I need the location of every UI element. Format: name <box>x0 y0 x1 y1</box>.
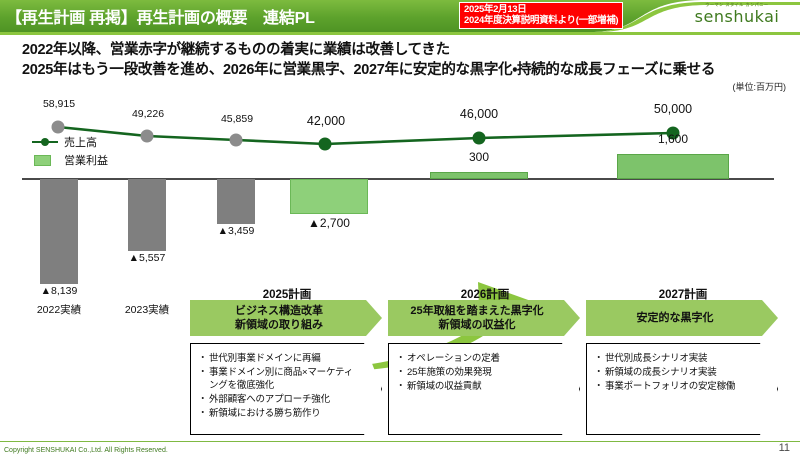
plan-2027-bullet-list: 世代別成長シナリオ実装 新領域の成長シナリオ実装 事業ポートフォリオの安定稼働 <box>587 344 777 393</box>
plan-title-2026: 2026計画 <box>390 286 580 302</box>
pl-chart: 58,915 49,226 45,859 42,000 46,000 50,00… <box>0 92 800 292</box>
plan-2025-bullet-list: 世代別事業ドメインに再編 事業ドメイン別に商品×マーケティングを徹底強化 外部顧… <box>191 344 381 420</box>
revenue-marker-2022 <box>52 121 65 134</box>
badge-line-1: 2025年2月13日 <box>464 4 618 15</box>
plan-2025-headline-1: ビジネス構造改革 <box>235 304 323 318</box>
revenue-label-2025: 42,000 <box>288 114 364 128</box>
list-item: 新領域における勝ち筋作り <box>199 407 359 420</box>
plan-banner-2027: 安定的な黒字化 <box>586 300 778 336</box>
revenue-label-2026: 46,000 <box>441 107 517 121</box>
revenue-label-2027: 50,000 <box>635 102 711 116</box>
footer-divider <box>0 441 800 442</box>
company-logo: ウーマン スタイル カンパニー senshukai <box>682 2 792 25</box>
line-marker-icon <box>32 136 58 148</box>
revenue-marker-2023 <box>141 130 154 143</box>
plan-2025-headline-2: 新領域の取り組み <box>235 318 323 332</box>
profit-label-2027: 1,600 <box>635 132 711 146</box>
profit-bar-2024 <box>217 179 255 224</box>
lead-line-1: 2022年以降、営業赤字が継続するものの着実に業績は改善してきた <box>22 40 782 60</box>
page-number: 11 <box>779 442 790 454</box>
revenue-marker-2024 <box>230 134 243 147</box>
profit-bar-2027 <box>617 154 729 179</box>
list-item: 新領域の成長シナリオ実装 <box>595 366 755 379</box>
plan-title-2027: 2027計画 <box>588 286 778 302</box>
plan-2026-bullet-list: オペレーションの定着 25年施策の効果発現 新領域の収益貢献 <box>389 344 579 393</box>
list-item: 事業ドメイン別に商品×マーケティングを徹底強化 <box>199 366 359 392</box>
list-item: オペレーションの定着 <box>397 352 557 365</box>
list-item: 世代別事業ドメインに再編 <box>199 352 359 365</box>
profit-label-2023: ▲5,557 <box>112 252 182 264</box>
x-axis-label-2022: 2022実績 <box>24 302 94 317</box>
page-title: 【再生計画 再掲】再生計画の概要 連結PL <box>6 4 315 28</box>
badge-line-2: 2024年度決算説明資料より(一部増補) <box>464 15 618 26</box>
profit-label-2026: 300 <box>441 150 517 164</box>
header-divider <box>0 32 800 35</box>
profit-bar-2022 <box>40 179 78 284</box>
legend-item-profit: 営業利益 <box>32 152 108 167</box>
copyright-text: Copyright SENSHUKAI Co.,Ltd. All Rights … <box>4 447 168 454</box>
lead-text: 2022年以降、営業赤字が継続するものの着実に業績は改善してきた 2025年はも… <box>22 40 782 80</box>
chart-legend: 売上高 営業利益 <box>32 134 108 170</box>
list-item: 外部顧客へのアプローチ強化 <box>199 393 359 406</box>
plan-banner-2025: ビジネス構造改革 新領域の取り組み <box>190 300 382 336</box>
plan-banner-2026: 25年取組を踏まえた黒字化 新領域の収益化 <box>388 300 580 336</box>
profit-bar-2025 <box>290 179 368 214</box>
square-swatch-icon <box>32 154 58 166</box>
plan-2027-headline-1: 安定的な黒字化 <box>637 311 714 325</box>
list-item: 世代別成長シナリオ実装 <box>595 352 755 365</box>
slide: 【再生計画 再掲】再生計画の概要 連結PL 2025年2月13日 2024年度決… <box>0 0 800 456</box>
legend-label-revenue: 売上高 <box>64 134 97 150</box>
plan-2026-headline-2: 新領域の収益化 <box>410 318 543 332</box>
profit-label-2022: ▲8,139 <box>24 285 94 297</box>
profit-bar-2026 <box>430 172 528 179</box>
plan-2026-headline-1: 25年取組を踏まえた黒字化 <box>410 304 543 318</box>
legend-label-profit: 営業利益 <box>64 152 108 168</box>
plan-details-2027: 世代別成長シナリオ実装 新領域の成長シナリオ実装 事業ポートフォリオの安定稼働 <box>586 343 778 435</box>
plan-title-2025: 2025計画 <box>192 286 382 302</box>
revenue-marker-2025 <box>319 138 332 151</box>
profit-label-2024: ▲3,459 <box>201 225 271 237</box>
list-item: 事業ポートフォリオの安定稼働 <box>595 380 755 393</box>
plan-details-2025: 世代別事業ドメインに再編 事業ドメイン別に商品×マーケティングを徹底強化 外部顧… <box>190 343 382 435</box>
source-date-badge: 2025年2月13日 2024年度決算説明資料より(一部増補) <box>459 2 623 29</box>
slide-header: 【再生計画 再掲】再生計画の概要 連結PL 2025年2月13日 2024年度決… <box>0 0 800 32</box>
revenue-marker-2026 <box>473 132 486 145</box>
profit-label-2025: ▲2,700 <box>291 216 367 230</box>
list-item: 新領域の収益貢献 <box>397 380 557 393</box>
plan-banner-2027-text: 安定的な黒字化 <box>637 311 728 325</box>
revenue-label-2022: 58,915 <box>24 98 94 110</box>
list-item: 25年施策の効果発現 <box>397 366 557 379</box>
legend-item-revenue: 売上高 <box>32 134 108 149</box>
profit-bar-2023 <box>128 179 166 251</box>
plan-details-2026: オペレーションの定着 25年施策の効果発現 新領域の収益貢献 <box>388 343 580 435</box>
plan-banner-2026-text: 25年取組を踏まえた黒字化 新領域の収益化 <box>410 304 557 332</box>
revenue-label-2023: 49,226 <box>113 108 183 120</box>
x-axis-label-2023: 2023実績 <box>112 302 182 317</box>
plan-banner-2025-text: ビジネス構造改革 新領域の取り組み <box>235 304 337 332</box>
revenue-label-2024: 45,859 <box>202 113 272 125</box>
logo-wordmark: senshukai <box>682 8 792 25</box>
lead-line-2: 2025年はもう一段改善を進め、2026年に営業黒字、2027年に安定的な黒字化… <box>22 60 782 80</box>
